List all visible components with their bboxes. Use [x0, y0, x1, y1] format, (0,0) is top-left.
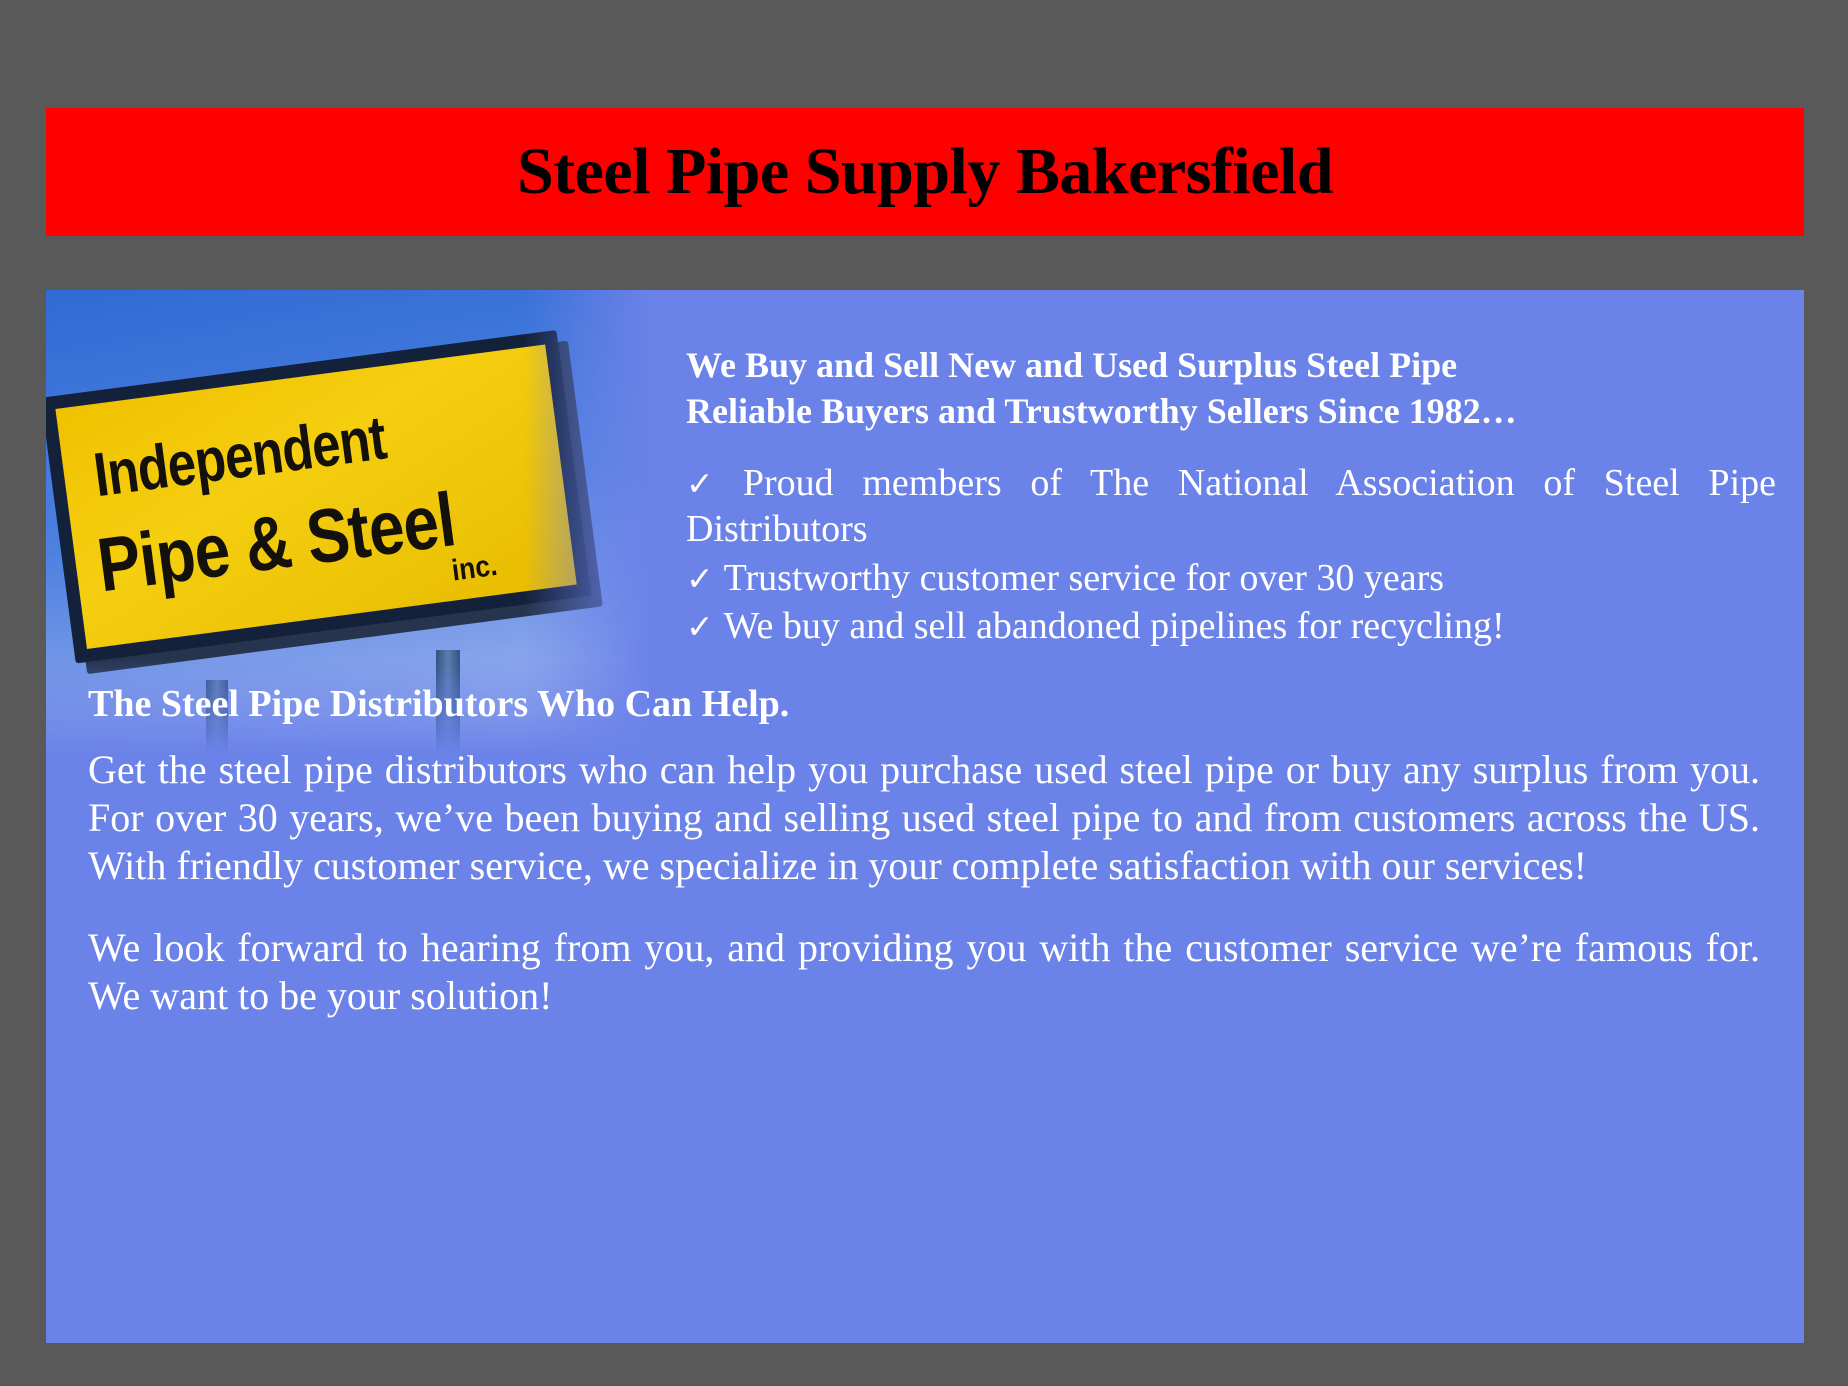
check-icon: ✓: [686, 464, 733, 503]
check-icon: ✓: [686, 559, 714, 598]
list-item-label: Proud members of The National Associatio…: [686, 462, 1776, 550]
body-paragraph-1: Get the steel pipe distributors who can …: [88, 746, 1760, 890]
list-item-label: Trustworthy customer service for over 30…: [724, 557, 1444, 599]
billboard-face: Independent Pipe & Steel inc.: [55, 345, 576, 649]
page-title: Steel Pipe Supply Bakersfield: [517, 139, 1333, 205]
headline-line-2: Reliable Buyers and Trustworthy Sellers …: [686, 388, 1776, 434]
list-item-label: We buy and sell abandoned pipelines for …: [724, 605, 1505, 647]
headline-block: We Buy and Sell New and Used Surplus Ste…: [686, 342, 1776, 434]
headline-line-1: We Buy and Sell New and Used Surplus Ste…: [686, 342, 1776, 388]
list-item: ✓We buy and sell abandoned pipelines for…: [686, 603, 1776, 649]
sign-text-inc: inc.: [450, 549, 500, 589]
section-subheading: The Steel Pipe Distributors Who Can Help…: [88, 682, 1760, 728]
content-panel: Independent Pipe & Steel inc. We Buy and…: [46, 290, 1804, 1343]
body-copy: The Steel Pipe Distributors Who Can Help…: [88, 682, 1760, 1054]
title-banner: Steel Pipe Supply Bakersfield: [46, 108, 1804, 236]
check-icon: ✓: [686, 607, 714, 646]
body-paragraph-2: We look forward to hearing from you, and…: [88, 924, 1760, 1020]
feature-bullet-list: ✓Proud members of The National Associati…: [686, 460, 1776, 651]
list-item: ✓Trustworthy customer service for over 3…: [686, 555, 1776, 601]
list-item: ✓Proud members of The National Associati…: [686, 460, 1776, 553]
slide-canvas: Steel Pipe Supply Bakersfield Independen…: [0, 0, 1848, 1386]
billboard-frame: Independent Pipe & Steel inc.: [46, 330, 591, 664]
